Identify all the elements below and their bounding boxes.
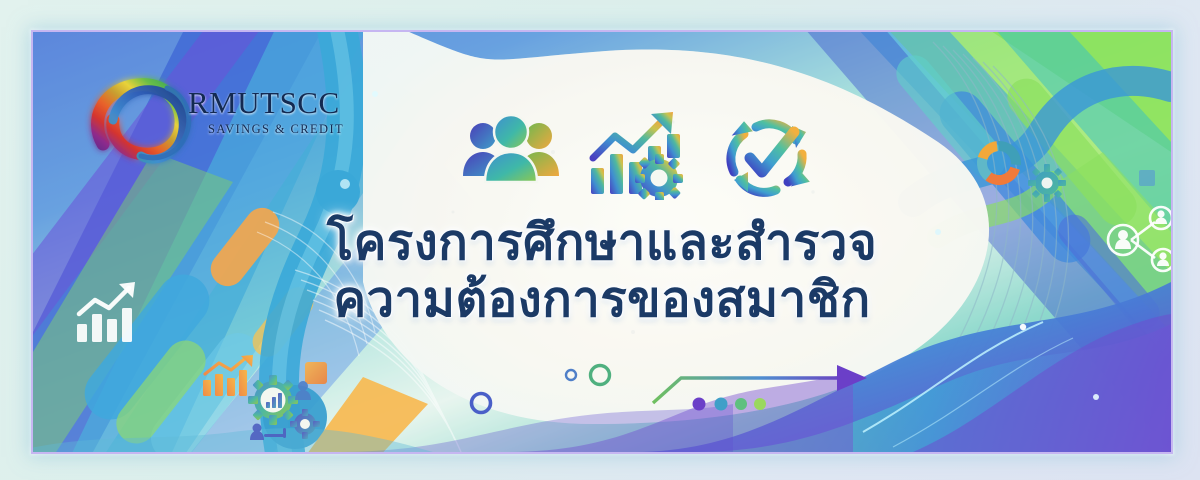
process-arrow-graphic <box>391 357 871 419</box>
brand-name: RMUTSCC <box>188 87 378 118</box>
headline-line-1: โครงการศึกษาและสำรวจ <box>33 215 1171 272</box>
gear-icon <box>1026 162 1068 209</box>
promotional-banner: RMUTSCC SAVINGS & CREDIT <box>31 30 1173 454</box>
gears-analytics-icon <box>245 372 325 449</box>
bar-chart-trend-icon <box>69 280 145 355</box>
check-cycle-icon <box>718 110 818 205</box>
chart-growth-gear-icon <box>585 110 695 205</box>
brand-logo: RMUTSCC SAVINGS & CREDIT <box>83 62 333 172</box>
headline-line-2: ความต้องการของสมาชิก <box>33 272 1171 329</box>
headline: โครงการศึกษาและสำรวจ ความต้องการของสมาชิ… <box>33 215 1171 329</box>
people-group-icon <box>461 110 561 195</box>
banner-stage: RMUTSCC SAVINGS & CREDIT <box>0 0 1200 480</box>
network-people-icon <box>1101 200 1171 283</box>
brand-tagline: SAVINGS & CREDIT <box>208 122 378 137</box>
brand-text-block: RMUTSCC SAVINGS & CREDIT <box>188 87 378 137</box>
donut-chart-icon <box>973 137 1025 194</box>
feature-icon-row <box>453 110 833 202</box>
